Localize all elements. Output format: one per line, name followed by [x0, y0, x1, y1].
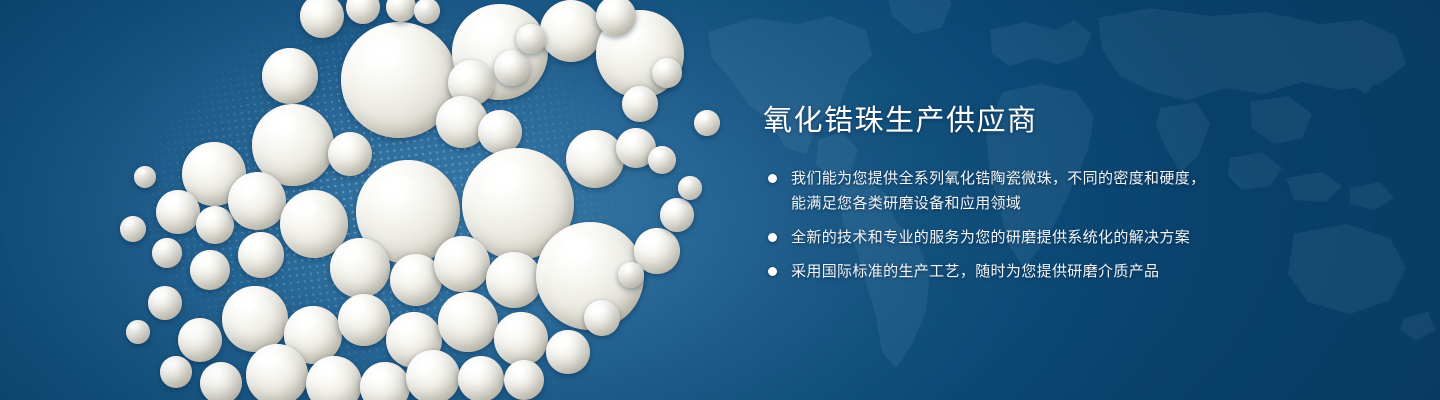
banner-text-block: 氧化锆珠生产供应商 我们能为您提供全系列氧化锆陶瓷微珠，不同的密度和硬度，能满足… [763, 104, 1283, 284]
bullet-dot-icon [768, 233, 777, 242]
feature-text: 我们能为您提供全系列氧化锆陶瓷微珠，不同的密度和硬度，能满足您各类研磨设备和应用… [791, 170, 1205, 212]
banner-headline: 氧化锆珠生产供应商 [763, 104, 1283, 138]
hero-banner: 氧化锆珠生产供应商 我们能为您提供全系列氧化锆陶瓷微珠，不同的密度和硬度，能满足… [0, 0, 1440, 400]
bullet-dot-icon [768, 267, 777, 276]
bullet-dot-icon [768, 174, 777, 183]
feature-list-item: 全新的技术和专业的服务为您的研磨提供系统化的解决方案 [763, 225, 1213, 250]
feature-list-item: 采用国际标准的生产工艺，随时为您提供研磨介质产品 [763, 259, 1213, 284]
feature-list-item: 我们能为您提供全系列氧化锆陶瓷微珠，不同的密度和硬度，能满足您各类研磨设备和应用… [763, 166, 1213, 216]
banner-feature-list: 我们能为您提供全系列氧化锆陶瓷微珠，不同的密度和硬度，能满足您各类研磨设备和应用… [763, 166, 1283, 284]
feature-text: 全新的技术和专业的服务为您的研磨提供系统化的解决方案 [791, 229, 1190, 246]
feature-text: 采用国际标准的生产工艺，随时为您提供研磨介质产品 [791, 263, 1159, 280]
